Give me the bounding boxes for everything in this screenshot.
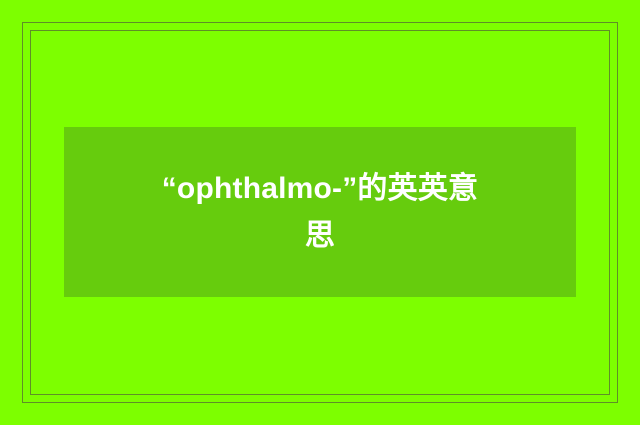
banner-canvas: “ophthalmo-”的英英意思	[0, 0, 640, 425]
page-title: “ophthalmo-”的英英意思	[160, 165, 480, 260]
content-card: “ophthalmo-”的英英意思	[64, 127, 576, 297]
